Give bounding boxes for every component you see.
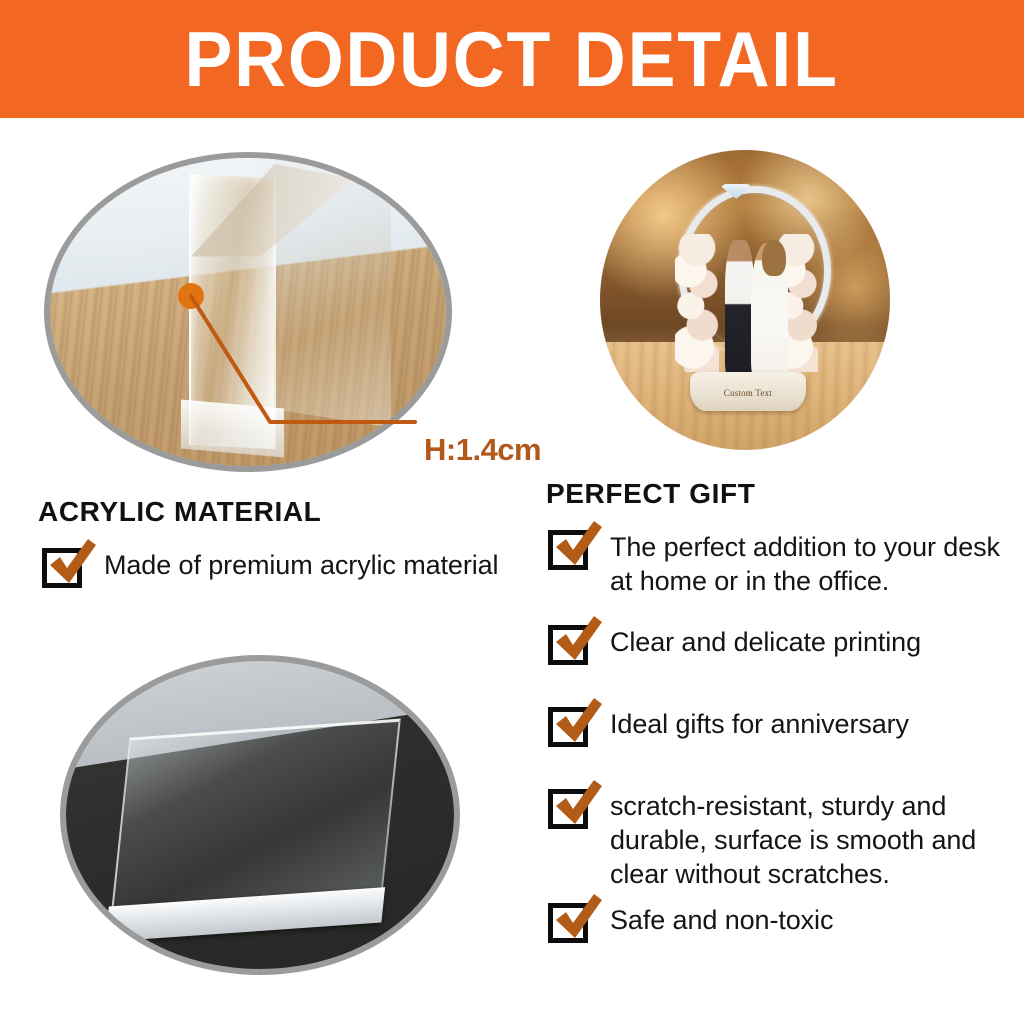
custom-text-engraving: Custom Text [690,388,806,398]
callout-leader-line-icon [150,280,440,480]
groom-figure [725,240,754,378]
checkbox-checked-icon [548,530,588,570]
figurine-photo: Custom Text [600,150,890,450]
header-banner: PRODUCT DETAIL [0,0,1024,118]
feature-item: The perfect addition to your desk at hom… [548,530,1010,598]
checkbox-checked-icon [548,903,588,943]
feature-item: Made of premium acrylic material [42,548,498,588]
acrylic-slab-photo [60,655,460,975]
feature-item: Clear and delicate printing [548,625,921,665]
bokeh-background: Custom Text [600,150,890,450]
feature-text: Safe and non-toxic [610,903,833,937]
feature-text: Ideal gifts for anniversary [610,707,909,741]
figurine-base: Custom Text [690,372,806,411]
section-heading-perfect-gift: PERFECT GIFT [546,478,755,510]
feature-text: The perfect addition to your desk at hom… [610,530,1010,598]
feature-text: Made of premium acrylic material [104,548,498,582]
feature-item: Ideal gifts for anniversary [548,707,909,747]
acrylic-slab-top-face [111,718,400,911]
slate-surface-scene [66,661,454,969]
feature-text: scratch-resistant, sturdy and durable, s… [610,789,1024,891]
height-callout-label: H:1.4cm [424,434,541,465]
feature-item: scratch-resistant, sturdy and durable, s… [548,789,1024,891]
checkbox-checked-icon [548,707,588,747]
bride-hair [762,240,785,276]
checkbox-checked-icon [548,789,588,829]
rose-garland-left [675,234,719,372]
feature-item: Safe and non-toxic [548,903,833,943]
section-heading-acrylic: ACRYLIC MATERIAL [38,496,321,528]
page-title: PRODUCT DETAIL [185,20,839,98]
acrylic-slab [111,718,400,911]
checkbox-checked-icon [548,625,588,665]
feature-text: Clear and delicate printing [610,625,921,659]
checkbox-checked-icon [42,548,82,588]
product-detail-infographic: PRODUCT DETAIL H:1.4cm Custom Te [0,0,1024,1024]
